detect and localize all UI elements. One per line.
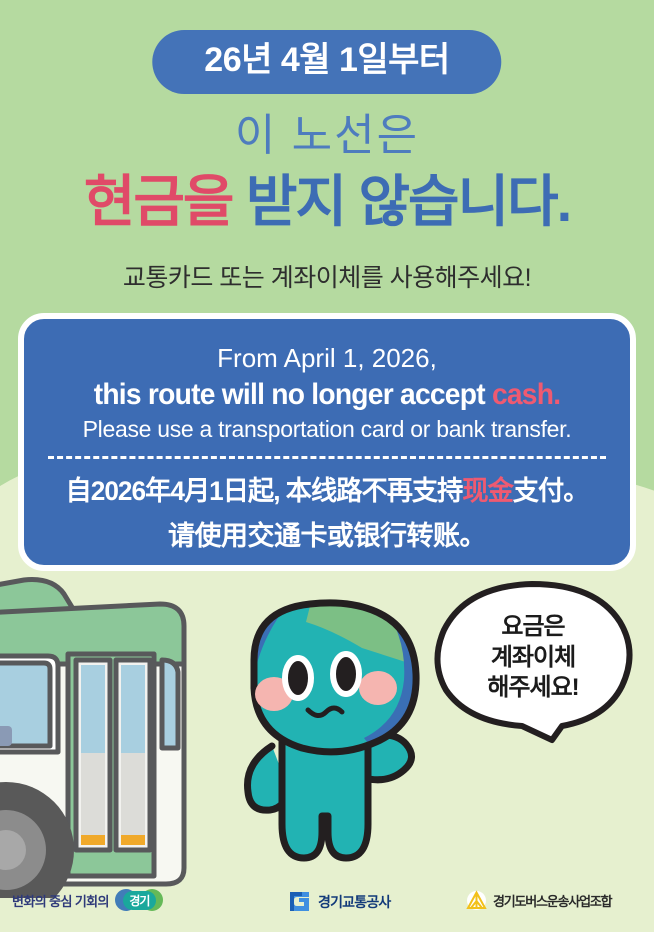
chinese-line-1-after: 支付。 — [513, 476, 589, 506]
gyeonggi-badge-icon: 경기 — [115, 888, 163, 912]
speech-bubble-line-1: 요금은 — [448, 612, 618, 643]
chinese-line-1-before: 自2026年4月1日起, 本线路不再支持 — [66, 476, 463, 506]
gtc-name: 경기교통공사 — [318, 892, 390, 912]
poster-root: 26년 4월 1일부터 이 노선은 현금을 받지 않습니다. 교통카드 또는 계… — [0, 0, 654, 932]
bus-association-triangle-icon — [466, 890, 487, 911]
bus-association-logo: 경기도버스운송사업조합 — [466, 890, 611, 911]
mascot-eye-right — [333, 654, 359, 694]
chinese-line-2: 请使用交通卡或银行转账。 — [46, 514, 608, 553]
gtc-logo: 경기교통공사 — [288, 890, 390, 913]
headline-line-1-text: 이 노선은 — [235, 111, 419, 160]
gyeonggi-slogan: 변화의 중심 기회의 — [12, 891, 109, 910]
headline-cash-word: 현금을 — [84, 170, 233, 233]
footer-logo-bar: 변화의 중심 기회의 경기 경기교통공사 — [0, 880, 654, 932]
speech-bubble-line-2: 계좌이체 — [448, 643, 618, 674]
english-line-2-main: this route will no longer accept — [94, 378, 492, 411]
english-line-1-text: From April 1, 2026, — [217, 343, 437, 373]
speech-bubble-text: 요금은 계좌이체 해주세요! — [448, 612, 618, 704]
english-line-1: From April 1, 2026, — [46, 343, 608, 374]
gyeonggi-badge-pill: 경기 — [123, 891, 156, 910]
headline-line-2: 현금을 받지 않습니다. — [0, 170, 654, 234]
mascot-eye-left — [285, 658, 311, 698]
gyeonggi-badge-label: 경기 — [129, 892, 149, 909]
card-dashed-divider — [48, 456, 606, 459]
speech-bubble-line-3: 해주세요! — [448, 673, 618, 704]
mascot-illustration — [236, 588, 446, 883]
multilingual-info-card: From April 1, 2026, this route will no l… — [18, 313, 636, 571]
headline-subtitle-text: 교통카드 또는 계좌이체를 사용해주세요! — [123, 264, 531, 292]
chinese-line-2-text: 请使用交通卡或银行转账。 — [168, 521, 486, 551]
date-banner-label: 26년 4월 1일부터 — [204, 41, 449, 79]
date-banner-pill: 26년 4월 1일부터 — [152, 30, 501, 94]
chinese-line-1: 自2026年4月1日起, 本线路不再支持现金支付。 — [54, 469, 599, 508]
english-line-3-text: Please use a transportation card or bank… — [83, 416, 572, 442]
headline-refuse-phrase: 받지 않습니다. — [232, 170, 570, 233]
gyeonggi-province-logo: 변화의 중심 기회의 경기 — [12, 888, 163, 912]
headline-subtitle: 교통카드 또는 계좌이체를 사용해주세요! — [0, 258, 654, 294]
mascot-cheek-right — [359, 671, 397, 705]
bus-association-name: 경기도버스운송사업조합 — [493, 891, 611, 910]
english-line-2: this route will no longer accept cash. — [63, 378, 591, 412]
gtc-logo-icon — [288, 890, 311, 913]
mascot-illustration-svg — [236, 588, 446, 878]
chinese-cash-highlight: 现金 — [462, 476, 512, 506]
english-line-3: Please use a transportation card or bank… — [46, 416, 608, 443]
headline-line-1: 이 노선은 — [0, 112, 654, 160]
english-cash-highlight: cash. — [492, 378, 560, 411]
